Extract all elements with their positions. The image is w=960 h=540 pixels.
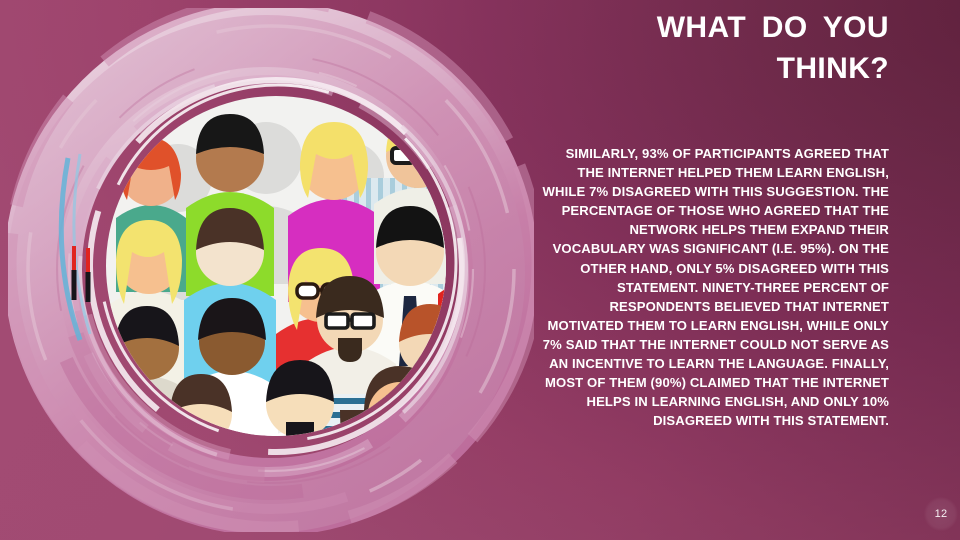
slide: WHAT DO YOU THINK? SIMILARLY, 93% OF PAR…: [0, 0, 960, 540]
slide-title-line2: THINK?: [540, 48, 889, 89]
crowd-illustration: [8, 8, 534, 532]
slide-title: WHAT DO YOU THINK?: [540, 7, 889, 89]
body-paragraph: SIMILARLY, 93% OF PARTICIPANTS AGREED TH…: [540, 144, 889, 430]
page-number: 12: [924, 497, 958, 531]
beard: [286, 422, 314, 450]
beard: [338, 338, 362, 362]
page-number-value: 12: [935, 508, 948, 520]
slide-title-line1: WHAT DO YOU: [657, 11, 889, 44]
